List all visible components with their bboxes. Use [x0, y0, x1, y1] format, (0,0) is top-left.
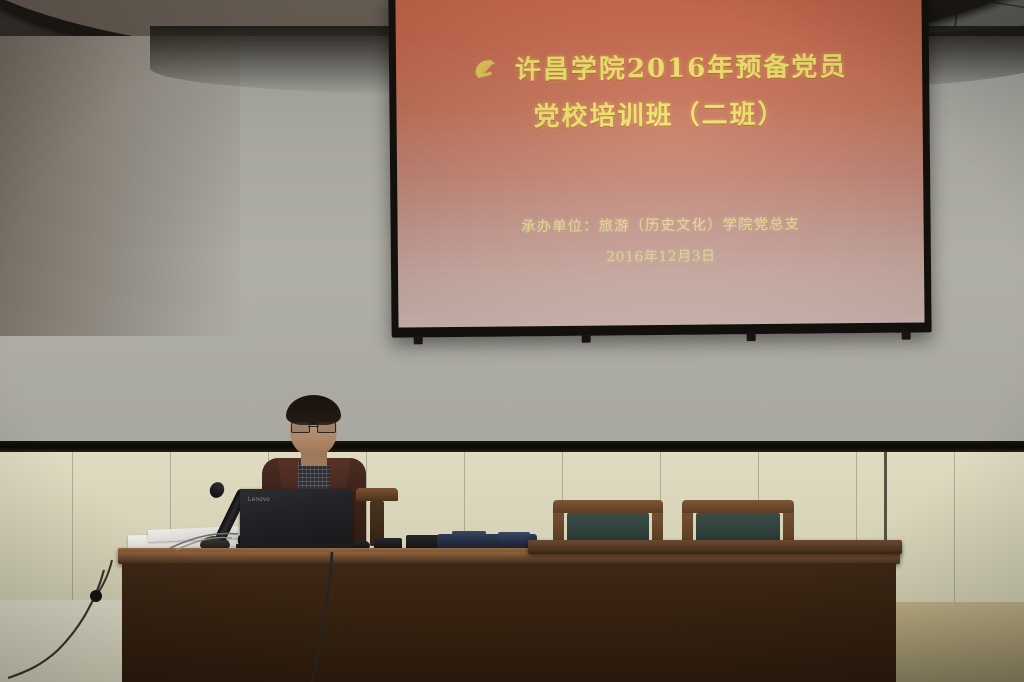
- cable-group: [0, 0, 1024, 682]
- cable-wall-clip: [90, 590, 102, 602]
- photo-scene: 许昌学院2016年预备党员 党校培训班（二班） 承办单位：旅游（历史文化）学院党…: [0, 0, 1024, 682]
- cable-desk-to-floor: [312, 552, 332, 682]
- cable-on-desk: [170, 534, 238, 548]
- cable-on-desk-2: [176, 538, 232, 551]
- cable-wall-run: [8, 570, 104, 678]
